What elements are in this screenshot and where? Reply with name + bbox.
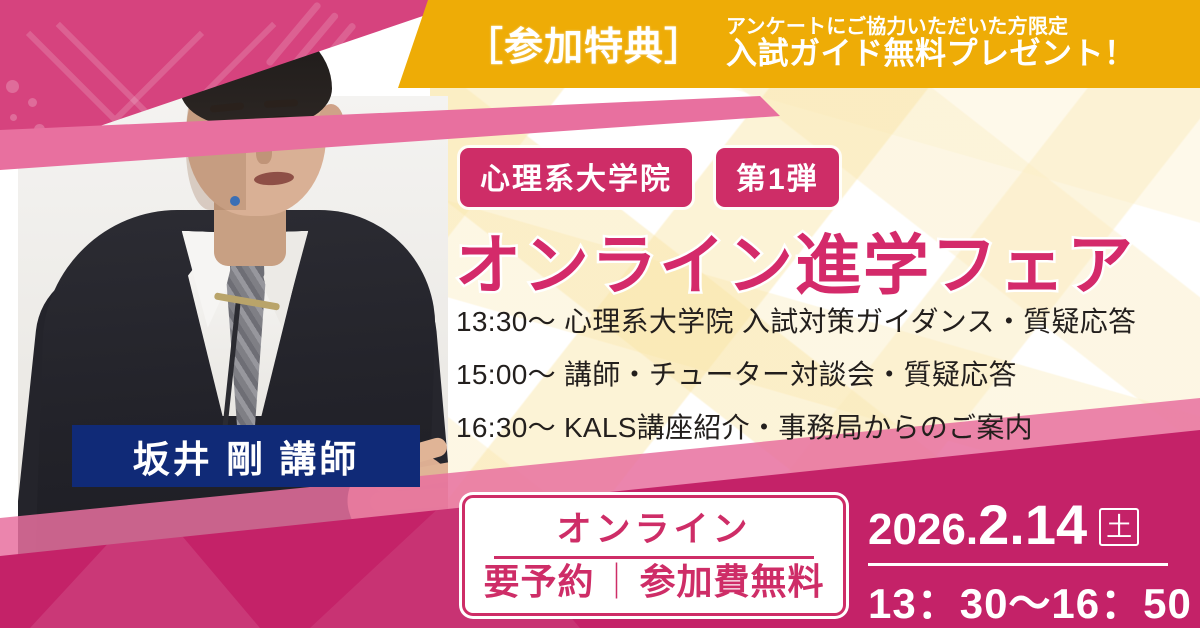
photo-lapel-pin (230, 196, 240, 206)
schedule-item: 16:30〜 KALS講座紹介・事務局からのご案内 (456, 406, 1136, 446)
date-month-day: 2.14 (978, 492, 1087, 557)
badge-edition: 第1弾 (716, 148, 839, 207)
benefit-text-group: アンケートにご協力いただいた方限定 入試ガイド無料プレゼント！ (726, 17, 1136, 70)
schedule-list: 13:30〜 心理系大学院 入試対策ガイダンス・質疑応答 15:00〜 講師・チ… (456, 300, 1136, 459)
event-date-block: 2026. 2.14 土 13：30〜16：50 (868, 492, 1188, 628)
date-year: 2026. (868, 505, 978, 555)
info-divider (494, 556, 814, 559)
speaker-name-plate: 坂井 剛 講師 (72, 425, 420, 487)
attendance-terms: 要予約｜参加費無料 (483, 564, 824, 600)
page-title: オンライン進学フェア (455, 212, 1135, 308)
schedule-item: 13:30〜 心理系大学院 入試対策ガイダンス・質疑応答 (456, 300, 1136, 340)
badge-group: 心理系大学院 第1弾 (460, 148, 839, 207)
badge-program: 心理系大学院 (460, 148, 692, 207)
benefit-title: ［参加特典］ (464, 16, 704, 72)
event-banner: ［参加特典］ アンケートにご協力いただいた方限定 入試ガイド無料プレゼント！ 心… (0, 0, 1200, 628)
date-row: 2026. 2.14 土 (868, 492, 1188, 557)
format-label: オンライン (556, 512, 751, 547)
terms-separator: ｜ (594, 561, 639, 602)
event-time-range: 13：30〜16：50 (868, 570, 1188, 628)
attendance-info-box: オンライン 要予約｜参加費無料 (462, 495, 846, 616)
date-day-of-week: 土 (1099, 508, 1139, 546)
benefit-banner: ［参加特典］ アンケートにご協力いただいた方限定 入試ガイド無料プレゼント！ (398, 0, 1200, 88)
benefit-headline: 入試ガイド無料プレゼント！ (726, 38, 1136, 70)
reservation-label: 要予約 (483, 561, 594, 602)
fee-label: 参加費無料 (640, 561, 825, 602)
speaker-name: 坂井 剛 講師 (133, 429, 360, 483)
schedule-item: 15:00〜 講師・チューター対談会・質疑応答 (456, 353, 1136, 393)
benefit-subtitle: アンケートにご協力いただいた方限定 (726, 17, 1136, 38)
date-divider (868, 563, 1168, 566)
